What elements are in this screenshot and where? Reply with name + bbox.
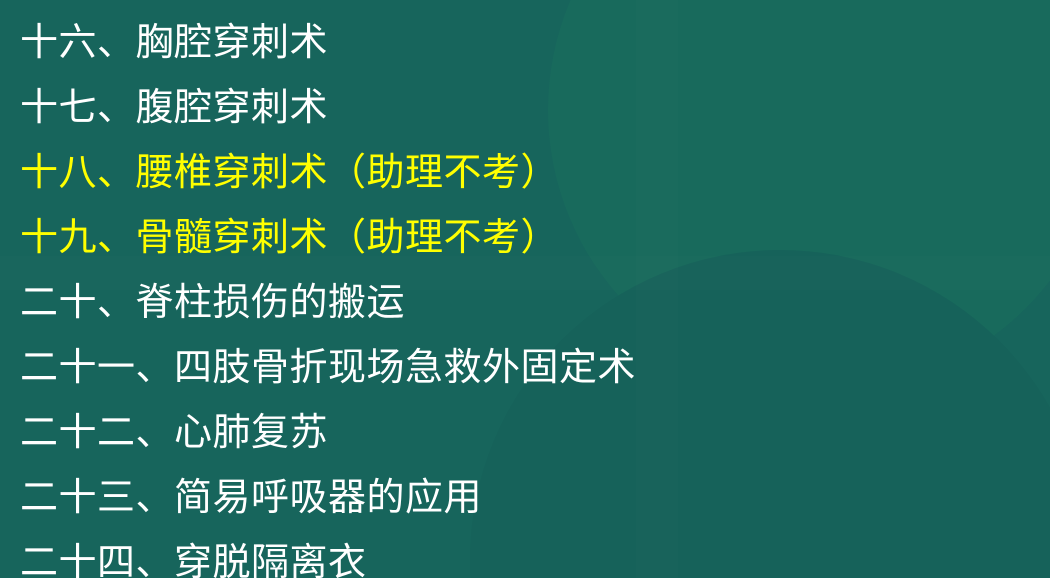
list-item-label: 腰椎穿刺术 [136,150,329,194]
list-item-label: 胸腔穿刺术 [136,20,329,64]
list-item-number: 二十三、 [20,475,174,519]
list-item-label: 简易呼吸器的应用 [174,475,482,519]
list-item-label: 四肢骨折现场急救外固定术 [174,345,636,389]
list-item-label: 脊柱损伤的搬运 [136,280,406,324]
list-item: 十八、腰椎穿刺术（助理不考） [0,140,1050,205]
list-item-number: 二十一、 [20,345,174,389]
list-item: 二十一、四肢骨折现场急救外固定术 [0,335,1050,400]
outline-list: 十六、胸腔穿刺术十七、腹腔穿刺术十八、腰椎穿刺术（助理不考）十九、骨髓穿刺术（助… [0,0,1050,578]
list-item-label: 穿脱隔离衣 [174,540,367,578]
list-item-note: （助理不考） [328,215,559,259]
list-item: 二十、脊柱损伤的搬运 [0,270,1050,335]
list-item-label: 骨髓穿刺术 [136,215,329,259]
slide-canvas: 十六、胸腔穿刺术十七、腹腔穿刺术十八、腰椎穿刺术（助理不考）十九、骨髓穿刺术（助… [0,0,1050,578]
list-item-label: 心肺复苏 [174,410,328,454]
list-item-label: 腹腔穿刺术 [136,85,329,129]
list-item: 十七、腹腔穿刺术 [0,75,1050,140]
list-item-number: 十六、 [20,20,136,64]
list-item-number: 十八、 [20,150,136,194]
list-item: 二十二、心肺复苏 [0,400,1050,465]
list-item-number: 二十、 [20,280,136,324]
list-item-number: 十九、 [20,215,136,259]
list-item: 二十三、简易呼吸器的应用 [0,465,1050,530]
list-item: 十九、骨髓穿刺术（助理不考） [0,205,1050,270]
list-item: 十六、胸腔穿刺术 [0,10,1050,75]
list-item-number: 二十四、 [20,540,174,578]
list-item-number: 二十二、 [20,410,174,454]
list-item-note: （助理不考） [328,150,559,194]
list-item: 二十四、穿脱隔离衣 [0,530,1050,578]
list-item-number: 十七、 [20,85,136,129]
